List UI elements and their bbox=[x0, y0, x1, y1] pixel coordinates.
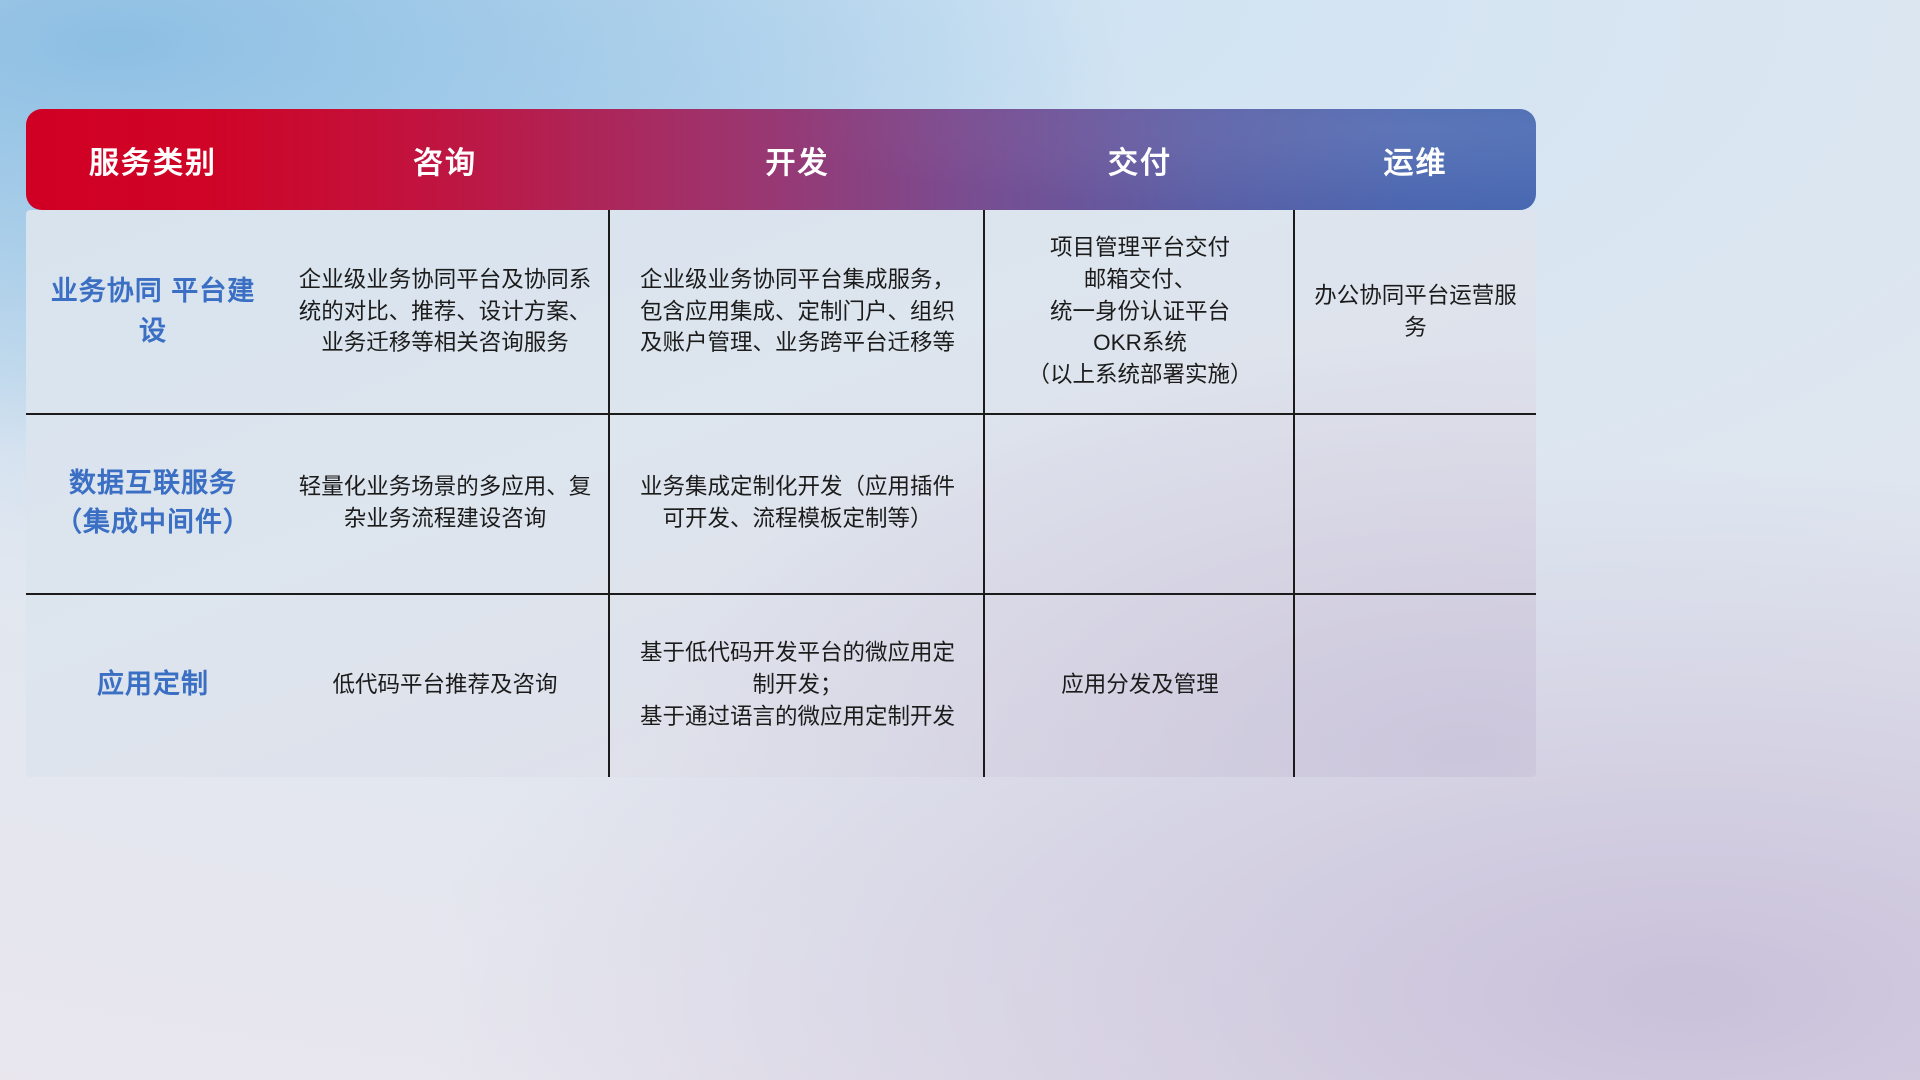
column-header-delivery: 交付 bbox=[985, 138, 1295, 182]
row-operations-cell bbox=[1295, 413, 1536, 593]
row-delivery-cell bbox=[985, 413, 1295, 593]
column-header-category: 服务类别 bbox=[26, 138, 280, 182]
table-row: 数据互联服务 （集成中间件） 轻量化业务场景的多应用、复 杂业务流程建设咨询 业… bbox=[26, 413, 1536, 593]
row-category-label: 应用定制 bbox=[97, 665, 209, 704]
row-delivery-text: 项目管理平台交付 邮箱交付、 统一身份认证平台 OKR系统 （以上系统部署实施） bbox=[1027, 232, 1252, 392]
row-category-cell: 业务协同 平台建设 bbox=[26, 210, 280, 413]
row-operations-cell bbox=[1295, 593, 1536, 777]
row-operations-cell: 办公协同平台运营服务 bbox=[1295, 210, 1536, 413]
row-consulting-text: 轻量化业务场景的多应用、复 杂业务流程建设咨询 bbox=[299, 471, 592, 535]
row-category-label: 业务协同 平台建设 bbox=[40, 272, 266, 350]
row-delivery-cell: 项目管理平台交付 邮箱交付、 统一身份认证平台 OKR系统 （以上系统部署实施） bbox=[985, 210, 1295, 413]
row-delivery-cell: 应用分发及管理 bbox=[985, 593, 1295, 777]
row-development-cell: 基于低代码开发平台的微应用定 制开发； 基于通过语言的微应用定制开发 bbox=[610, 593, 985, 777]
row-development-text: 企业级业务协同平台集成服务， 包含应用集成、定制门户、组织 及账户管理、业务跨平… bbox=[640, 264, 955, 360]
service-matrix-table: 服务类别 咨询 开发 交付 运维 业务协同 平台建设 企业级业务协同平台及协同系… bbox=[26, 109, 1536, 777]
row-consulting-text: 企业级业务协同平台及协同系 统的对比、推荐、设计方案、 业务迁移等相关咨询服务 bbox=[299, 264, 592, 360]
column-header-development: 开发 bbox=[610, 138, 985, 182]
row-consulting-cell: 轻量化业务场景的多应用、复 杂业务流程建设咨询 bbox=[280, 413, 610, 593]
row-development-cell: 企业级业务协同平台集成服务， 包含应用集成、定制门户、组织 及账户管理、业务跨平… bbox=[610, 210, 985, 413]
table-header-row: 服务类别 咨询 开发 交付 运维 bbox=[26, 109, 1536, 210]
row-category-cell: 数据互联服务 （集成中间件） bbox=[26, 413, 280, 593]
row-consulting-cell: 低代码平台推荐及咨询 bbox=[280, 593, 610, 777]
column-header-operations: 运维 bbox=[1295, 138, 1536, 182]
table-row: 业务协同 平台建设 企业级业务协同平台及协同系 统的对比、推荐、设计方案、 业务… bbox=[26, 210, 1536, 413]
column-header-consulting: 咨询 bbox=[280, 138, 610, 182]
row-category-cell: 应用定制 bbox=[26, 593, 280, 777]
table-row: 应用定制 低代码平台推荐及咨询 基于低代码开发平台的微应用定 制开发； 基于通过… bbox=[26, 593, 1536, 777]
row-category-label: 数据互联服务 （集成中间件） bbox=[40, 464, 266, 542]
row-delivery-text: 应用分发及管理 bbox=[1061, 669, 1219, 701]
row-development-cell: 业务集成定制化开发（应用插件 可开发、流程模板定制等） bbox=[610, 413, 985, 593]
row-operations-text: 办公协同平台运营服务 bbox=[1309, 280, 1522, 344]
row-development-text: 基于低代码开发平台的微应用定 制开发； 基于通过语言的微应用定制开发 bbox=[640, 637, 955, 733]
row-consulting-text: 低代码平台推荐及咨询 bbox=[332, 669, 557, 701]
table-body: 业务协同 平台建设 企业级业务协同平台及协同系 统的对比、推荐、设计方案、 业务… bbox=[26, 210, 1536, 777]
row-development-text: 业务集成定制化开发（应用插件 可开发、流程模板定制等） bbox=[640, 471, 955, 535]
row-consulting-cell: 企业级业务协同平台及协同系 统的对比、推荐、设计方案、 业务迁移等相关咨询服务 bbox=[280, 210, 610, 413]
